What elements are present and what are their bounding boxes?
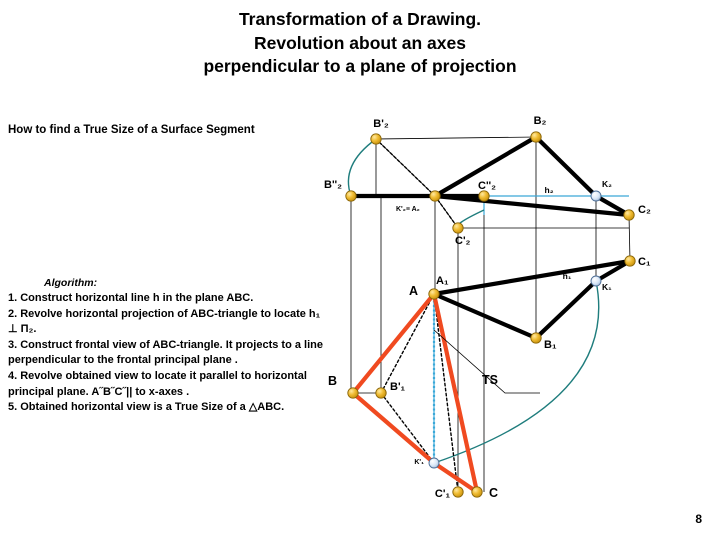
vertex-node-C xyxy=(472,487,482,497)
true-size-edge xyxy=(434,294,477,492)
vertex-label-C: C xyxy=(489,486,498,500)
vertex-node-C2 xyxy=(624,210,634,220)
vertex-label-Cp2: C'₂ xyxy=(455,235,471,247)
engineering-drawing-figure: B'₂B₂B''₂K'₂≡ A₂C''₂K₂C₂C'₂C₁A₁AK₁B₁BB'₁… xyxy=(0,0,720,540)
page-number: 8 xyxy=(695,512,702,526)
vertex-node-B xyxy=(348,388,358,398)
triangle-edge xyxy=(434,294,536,338)
vertex-node-B1 xyxy=(531,333,541,343)
vertex-node-K1p xyxy=(429,458,439,468)
vertex-node-B2 xyxy=(531,132,541,142)
vertex-node-Bpp2 xyxy=(346,191,356,201)
revolution-arcs-group xyxy=(348,139,598,463)
vertex-label-Anode: A xyxy=(409,284,418,298)
annotation-labels-group: h₂h₁TS xyxy=(482,185,572,387)
vertex-label-Bpp2: B''₂ xyxy=(324,179,342,191)
vertex-label-Bp1: B'₁ xyxy=(390,381,406,393)
revolution-arc xyxy=(348,139,376,196)
vertex-label-Cpp2: C''₂ xyxy=(478,180,496,192)
vertex-label-C1: C₁ xyxy=(638,256,651,268)
triangle-edge xyxy=(536,281,596,338)
vertex-label-A2: K'₂≡ A₂ xyxy=(396,206,420,213)
vertex-node-Cpp2 xyxy=(479,191,489,201)
vertex-label-B1: B₁ xyxy=(544,339,557,351)
vertex-node-K1 xyxy=(591,276,601,286)
vertex-node-Bp1 xyxy=(376,388,386,398)
vertex-label-C2: C₂ xyxy=(638,204,651,216)
true-size-edge xyxy=(353,294,434,393)
vertex-node-A2 xyxy=(430,191,440,201)
vertex-node-Bp2 xyxy=(371,134,381,144)
auxiliary-dotted-line xyxy=(381,294,434,393)
vertex-label-Bp2: B'₂ xyxy=(373,118,389,130)
vertex-label-Cp1: C'₁ xyxy=(435,488,451,500)
annotation-TS: TS xyxy=(482,373,498,387)
vertex-node-Cp1 xyxy=(453,487,463,497)
vertex-label-K1p: K'₁ xyxy=(414,459,424,466)
slide-root: Transformation of a Drawing. Revolution … xyxy=(0,0,720,540)
vertex-label-K1: K₁ xyxy=(602,282,612,292)
construction-line xyxy=(376,137,536,139)
vertex-label-K2: K₂ xyxy=(602,179,612,189)
vertex-label-B: B xyxy=(328,374,337,388)
construction-line xyxy=(629,215,630,261)
triangle-edges-group xyxy=(351,137,630,338)
vertex-node-K2 xyxy=(591,191,601,201)
true-size-edge xyxy=(353,393,434,463)
auxiliary-dotted-line xyxy=(381,393,434,463)
revolution-arc xyxy=(434,281,599,463)
vertex-node-Cp2 xyxy=(453,223,463,233)
auxiliary-dotted-line xyxy=(376,139,435,196)
vertex-node-C1 xyxy=(625,256,635,266)
vertex-label-A1: A₁ xyxy=(436,275,449,287)
vertex-node-A1 xyxy=(429,289,439,299)
annotation-h1: h₁ xyxy=(563,271,572,281)
annotation-h2: h₂ xyxy=(545,185,554,195)
vertex-label-B2: B₂ xyxy=(534,115,547,127)
